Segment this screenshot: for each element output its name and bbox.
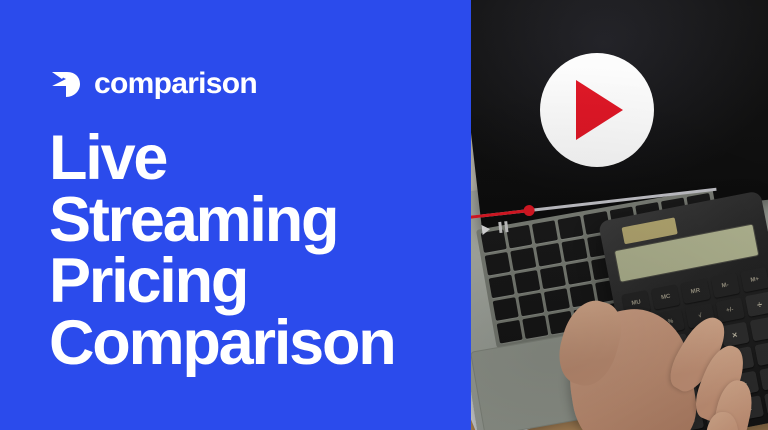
brand-name: comparison (94, 69, 257, 99)
keyboard-key (506, 225, 532, 249)
play-triangle-icon (576, 80, 623, 140)
headline-line-4: Comparison (49, 313, 449, 375)
headline-line-3: Pricing (49, 251, 449, 313)
headline-line-1: Live (49, 128, 449, 190)
hero-banner: MU MC MR M- M+ GT % √ +/- ÷ 7 8 9 × 4 (0, 0, 768, 430)
left-blue-panel: comparison Live Streaming Pricing Compar… (0, 0, 471, 430)
keyboard-key (485, 252, 511, 276)
keyboard-key (562, 238, 588, 262)
keyboard-key (558, 216, 584, 240)
play-icon[interactable] (481, 224, 490, 235)
page-title: Live Streaming Pricing Comparison (49, 128, 449, 375)
pause-icon[interactable] (498, 221, 508, 233)
keyboard-key (518, 293, 544, 317)
keyboard-key (489, 275, 515, 299)
keyboard-key (522, 315, 548, 339)
hand (556, 262, 768, 430)
keyboard-key (532, 220, 558, 244)
chevron-arrow-logo-icon (49, 68, 81, 100)
photo-scene: MU MC MR M- M+ GT % √ +/- ÷ 7 8 9 × 4 (471, 0, 768, 430)
keyboard-key (493, 297, 519, 321)
hero-photo: MU MC MR M- M+ GT % √ +/- ÷ 7 8 9 × 4 (471, 0, 768, 430)
keyboard-key (510, 247, 536, 271)
keyboard-key (514, 270, 540, 294)
headline-line-2: Streaming (49, 190, 449, 252)
brand-lockup[interactable]: comparison (49, 64, 257, 104)
keyboard-key (497, 320, 523, 344)
